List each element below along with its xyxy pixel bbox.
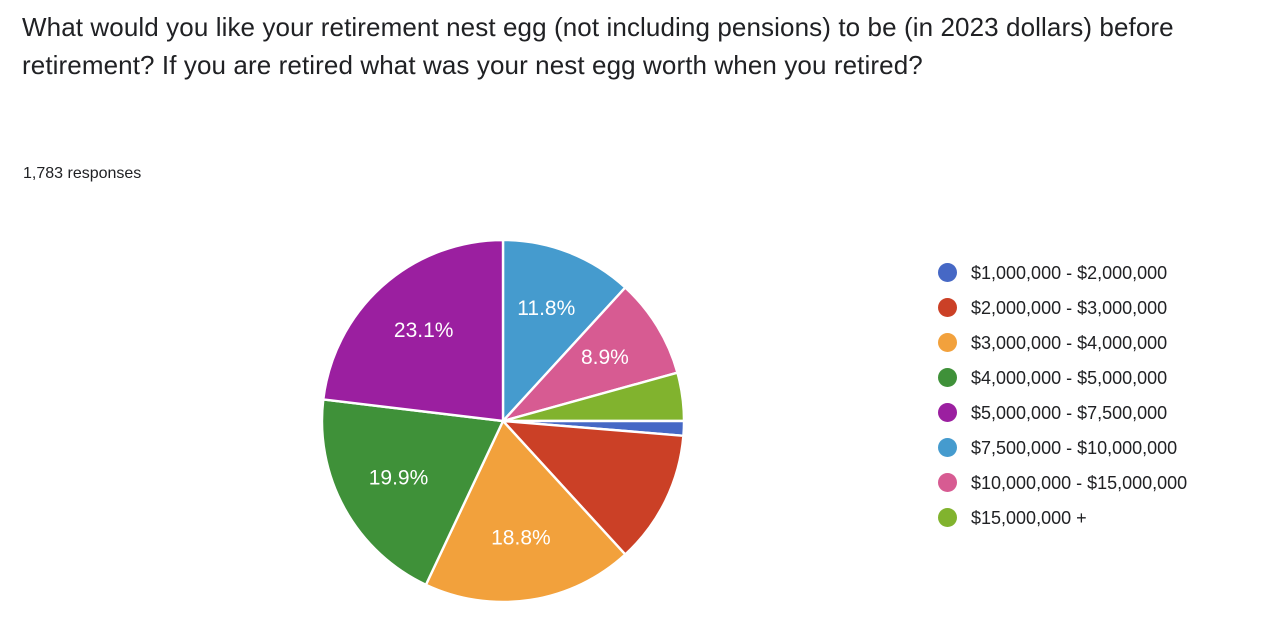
pie-chart: 11.8%8.9%18.8%19.9%23.1% <box>300 240 710 632</box>
legend-swatch-icon <box>938 368 957 387</box>
legend-item[interactable]: $7,500,000 - $10,000,000 <box>938 430 1286 465</box>
pie-chart-svg[interactable]: 11.8%8.9%18.8%19.9%23.1% <box>300 240 710 632</box>
legend-item-label: $2,000,000 - $3,000,000 <box>971 297 1167 319</box>
survey-result-page: What would you like your retirement nest… <box>0 0 1286 632</box>
chart-legend: $1,000,000 - $2,000,000$2,000,000 - $3,0… <box>938 255 1286 535</box>
legend-item-label: $1,000,000 - $2,000,000 <box>971 262 1167 284</box>
legend-swatch-icon <box>938 473 957 492</box>
legend-item[interactable]: $4,000,000 - $5,000,000 <box>938 360 1286 395</box>
legend-swatch-icon <box>938 403 957 422</box>
legend-item[interactable]: $1,000,000 - $2,000,000 <box>938 255 1286 290</box>
legend-item-label: $3,000,000 - $4,000,000 <box>971 332 1167 354</box>
pie-slice-label: 23.1% <box>394 319 454 342</box>
legend-item-label: $15,000,000 + <box>971 507 1087 529</box>
legend-swatch-icon <box>938 333 957 352</box>
legend-swatch-icon <box>938 438 957 457</box>
legend-item-label: $5,000,000 - $7,500,000 <box>971 402 1167 424</box>
pie-slice-label: 18.8% <box>491 527 551 550</box>
legend-swatch-icon <box>938 263 957 282</box>
legend-item[interactable]: $2,000,000 - $3,000,000 <box>938 290 1286 325</box>
legend-item[interactable]: $15,000,000 + <box>938 500 1286 535</box>
chart-area: 11.8%8.9%18.8%19.9%23.1% $1,000,000 - $2… <box>0 210 1286 632</box>
legend-item[interactable]: $10,000,000 - $15,000,000 <box>938 465 1286 500</box>
legend-item-label: $4,000,000 - $5,000,000 <box>971 367 1167 389</box>
legend-item-label: $7,500,000 - $10,000,000 <box>971 437 1177 459</box>
pie-slice-label: 8.9% <box>581 346 629 369</box>
pie-slice-label: 19.9% <box>369 466 429 489</box>
legend-swatch-icon <box>938 298 957 317</box>
page-title: What would you like your retirement nest… <box>22 8 1272 84</box>
legend-swatch-icon <box>938 508 957 527</box>
legend-item-label: $10,000,000 - $15,000,000 <box>971 472 1187 494</box>
pie-slice-label: 11.8% <box>517 297 575 320</box>
response-count: 1,783 responses <box>23 163 141 185</box>
legend-item[interactable]: $5,000,000 - $7,500,000 <box>938 395 1286 430</box>
legend-item[interactable]: $3,000,000 - $4,000,000 <box>938 325 1286 360</box>
